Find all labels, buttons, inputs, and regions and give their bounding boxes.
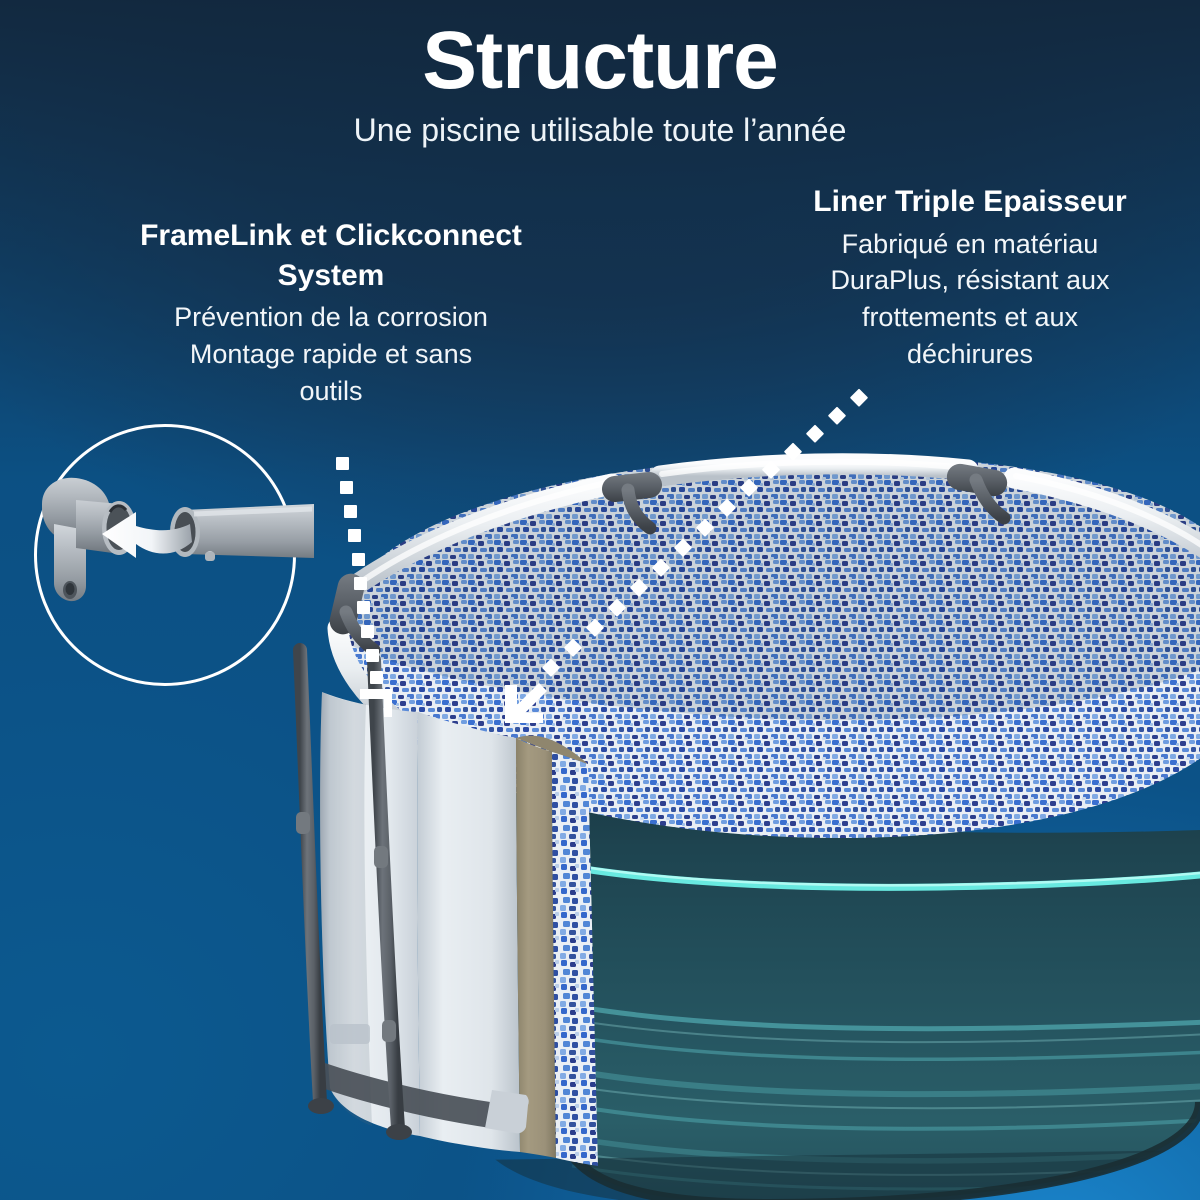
page-title: Structure <box>0 0 1200 105</box>
callout-liner-body-line2: DuraPlus, résistant aux <box>744 262 1196 299</box>
callout-framelink: FrameLink et Clickconnect System Prévent… <box>96 216 566 409</box>
callout-framelink-heading-line1: FrameLink et <box>140 219 327 252</box>
pipe-tube-icon <box>170 504 314 561</box>
callout-liner-heading: Liner Triple Epaisseur <box>744 182 1196 222</box>
infographic-root: Structure Une piscine utilisable toute l… <box>0 0 1200 1200</box>
callout-framelink-body-line2: Montage rapide et sans <box>96 336 566 373</box>
pool-wall-cutaway <box>320 692 598 1166</box>
dotted-pointer-to-frame <box>300 455 440 720</box>
callout-framelink-body-line3: outils <box>96 373 566 410</box>
page-subtitle: Une piscine utilisable toute l’année <box>0 105 1200 149</box>
frame-connector-detail <box>24 462 314 652</box>
callout-liner-body-line4: déchirures <box>744 336 1196 373</box>
callout-liner-heading-text: Liner Triple Epaisseur <box>813 185 1126 218</box>
callout-framelink-body: Prévention de la corrosion Montage rapid… <box>96 299 566 409</box>
callout-framelink-heading: FrameLink et Clickconnect System <box>96 216 566 295</box>
callout-liner-body: Fabriqué en matériau DuraPlus, résistant… <box>744 226 1196 373</box>
callout-liner: Liner Triple Epaisseur Fabriqué en matér… <box>744 182 1196 372</box>
header: Structure Une piscine utilisable toute l… <box>0 0 1200 149</box>
callout-framelink-body-line1: Prévention de la corrosion <box>96 299 566 336</box>
callout-liner-body-line3: frottements et aux <box>744 299 1196 336</box>
dotted-pointer-to-liner <box>495 385 885 730</box>
callout-liner-body-line1: Fabriqué en matériau <box>744 226 1196 263</box>
